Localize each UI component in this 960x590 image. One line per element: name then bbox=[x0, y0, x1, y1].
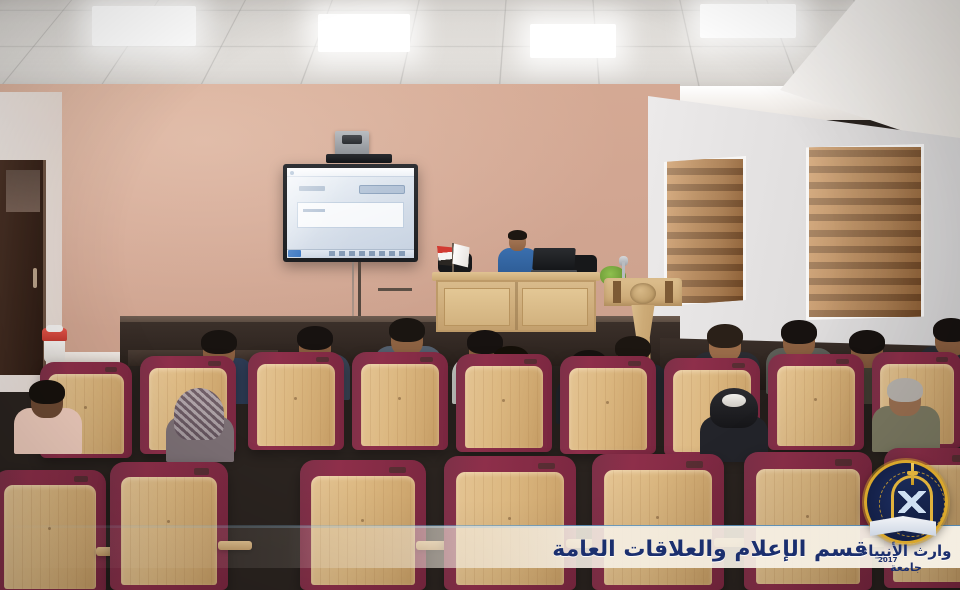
ceiling-light-3 bbox=[530, 24, 616, 58]
audience-hair bbox=[389, 318, 425, 342]
auditorium-seat[interactable] bbox=[592, 454, 724, 590]
door-glass-pane bbox=[6, 170, 40, 212]
seat-clip-icon bbox=[105, 367, 117, 372]
auditorium-seat[interactable] bbox=[456, 354, 552, 452]
university-logo: وارث الأنبياء جامعة 2017 bbox=[858, 458, 954, 566]
white-flag-icon bbox=[452, 243, 470, 267]
lecture-hall-photo: قسم الإعلام والعلاقات العامة وارث الأنبي… bbox=[0, 0, 960, 590]
ceiling-light-4 bbox=[700, 4, 796, 38]
auditorium-seat[interactable] bbox=[744, 452, 872, 590]
auditorium-seat[interactable] bbox=[352, 352, 448, 450]
seat-clip-icon bbox=[835, 459, 852, 466]
seat-backrest bbox=[569, 368, 648, 450]
audience-headscarf bbox=[174, 388, 224, 440]
logo-subtitle-text: جامعة bbox=[858, 561, 954, 574]
department-label: قسم الإعلام والعلاقات العامة bbox=[552, 537, 868, 562]
audience-hair bbox=[781, 320, 817, 344]
window-dot-icon bbox=[290, 171, 294, 175]
audience-hair bbox=[297, 326, 333, 350]
table-front-panel bbox=[436, 280, 596, 332]
auditorium-seat[interactable] bbox=[444, 456, 576, 590]
logo-geometric-motif bbox=[898, 491, 926, 513]
seat-clip-icon bbox=[420, 357, 432, 362]
slide-text-line bbox=[303, 209, 325, 212]
audience-member bbox=[872, 378, 942, 458]
audience-hair bbox=[933, 318, 960, 342]
seat-clip-icon bbox=[524, 359, 536, 364]
slide-heading-block bbox=[299, 186, 325, 191]
seat-clip-icon bbox=[194, 468, 209, 474]
auditorium-seat[interactable] bbox=[560, 356, 656, 454]
projector-icon bbox=[335, 131, 369, 155]
projector-lens-icon bbox=[342, 135, 362, 144]
seat-clip-icon bbox=[732, 363, 744, 368]
seat-clip-icon bbox=[836, 359, 848, 364]
door-handle[interactable] bbox=[33, 268, 37, 288]
desk-flags bbox=[436, 243, 474, 273]
table-inset-panel-right bbox=[522, 288, 588, 326]
ceiling-light-2 bbox=[318, 14, 410, 52]
seat-backrest bbox=[361, 364, 440, 446]
start-button-icon bbox=[288, 250, 301, 257]
seat-clip-icon bbox=[686, 461, 703, 468]
head-table bbox=[436, 272, 596, 334]
window-right-blind bbox=[806, 144, 924, 320]
seat-clip-icon bbox=[208, 361, 220, 366]
seat-clip-icon bbox=[936, 357, 948, 362]
seat-backrest bbox=[465, 366, 544, 448]
seat-clip-icon bbox=[628, 361, 640, 366]
taskbar-items bbox=[329, 251, 405, 256]
audience-member bbox=[166, 388, 236, 468]
audience-turban bbox=[710, 388, 758, 428]
whiteboard-screen[interactable] bbox=[287, 168, 414, 258]
table-inset-panel-left bbox=[444, 288, 510, 326]
logo-spire-icon bbox=[911, 463, 914, 485]
seat-clip-icon bbox=[74, 476, 89, 482]
zebra-blind-icon bbox=[809, 147, 921, 317]
lectern-top bbox=[604, 278, 682, 306]
logo-name-text: وارث الأنبياء bbox=[858, 542, 954, 560]
entry-door[interactable] bbox=[0, 160, 46, 375]
audience-member bbox=[14, 380, 84, 460]
lectern-emblem-icon bbox=[630, 283, 656, 304]
slide-button-block bbox=[359, 185, 405, 194]
slide-content-panel bbox=[297, 202, 404, 228]
seat-clip-icon bbox=[538, 463, 555, 470]
audience-hair bbox=[887, 378, 923, 402]
speaker-hair bbox=[508, 230, 527, 240]
seat-backrest bbox=[257, 364, 336, 446]
seat-clip-icon bbox=[389, 467, 405, 474]
audience-hair bbox=[29, 380, 65, 404]
slide-window-titlebar bbox=[287, 168, 414, 177]
whiteboard-stand-foot bbox=[378, 288, 412, 291]
audience-hair bbox=[707, 324, 743, 348]
trash-bin-body bbox=[44, 341, 65, 362]
audience-hair bbox=[201, 330, 237, 354]
audience-hair bbox=[849, 330, 885, 354]
seat-clip-icon bbox=[316, 357, 328, 362]
ceiling-light-1 bbox=[92, 6, 196, 46]
trash-bin-lid bbox=[42, 328, 67, 341]
laptop-screen bbox=[532, 248, 576, 270]
interactive-whiteboard[interactable] bbox=[283, 164, 418, 262]
auditorium-seat[interactable] bbox=[768, 354, 864, 450]
seat-backrest bbox=[777, 366, 856, 447]
logo-year-text: 2017 bbox=[878, 556, 897, 564]
trash-bin bbox=[42, 328, 67, 362]
slide-taskbar bbox=[287, 249, 414, 258]
auditorium-seat[interactable] bbox=[248, 352, 344, 450]
whiteboard-top-tray bbox=[326, 154, 392, 163]
